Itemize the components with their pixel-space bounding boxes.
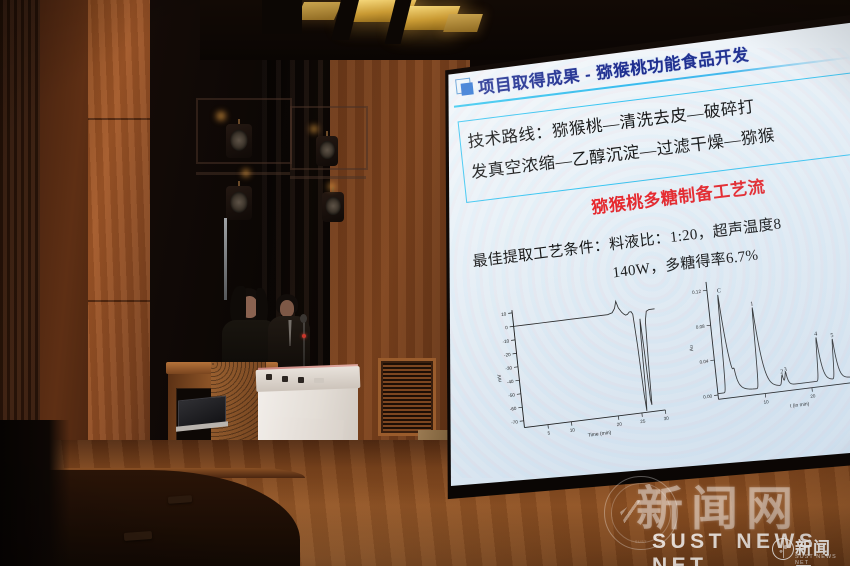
chart2-x-axis-label: t (in min) xyxy=(790,401,810,409)
svg-text:10: 10 xyxy=(763,399,769,405)
svg-text:-20: -20 xyxy=(504,352,512,358)
slide-content: 项目取得成果 - 猕猴桃功能食品开发 技术路线：猕猴桃—清洗去皮—破碎打 发真空… xyxy=(434,18,850,498)
logo-english: SUST NEWS NET xyxy=(795,554,848,566)
chart2-title: C xyxy=(717,288,722,294)
svg-text:0: 0 xyxy=(505,325,509,330)
chart-hplc-chromatogram: 0.000.040.080.12 102030 C Au t (in min) … xyxy=(672,255,850,431)
chart-gpc-chromatogram: 100-10-20-30-40-50-60-70 510202530 mV Ti… xyxy=(481,284,676,455)
projection-screen: 项目取得成果 - 猕猴桃功能食品开发 技术路线：猕猴桃—清洗去皮—破碎打 发真空… xyxy=(428,14,850,504)
svg-text:10: 10 xyxy=(501,311,507,317)
svg-text:-40: -40 xyxy=(507,379,515,385)
chart2-trace xyxy=(708,276,850,393)
stage-light xyxy=(316,136,338,166)
ceiling-beam xyxy=(262,0,302,34)
lectern-control-button[interactable] xyxy=(314,378,324,383)
microphone-icon xyxy=(300,314,307,323)
chart1-x-axis-label: Time (min) xyxy=(588,430,612,439)
svg-text:0.12: 0.12 xyxy=(692,289,702,295)
svg-text:-60: -60 xyxy=(510,406,518,412)
lectern-control-button[interactable] xyxy=(266,374,272,380)
svg-text:5: 5 xyxy=(547,430,551,435)
chart1-trace xyxy=(512,297,665,427)
svg-text:30: 30 xyxy=(663,416,669,422)
stage-light xyxy=(226,124,252,158)
svg-text:1: 1 xyxy=(750,301,754,307)
lighting-truss-bar xyxy=(290,176,366,179)
chart2-axes xyxy=(706,262,850,399)
svg-text:20: 20 xyxy=(616,421,622,427)
lectern-control-button[interactable] xyxy=(298,377,304,383)
svg-text:-50: -50 xyxy=(508,392,516,398)
chart2-peak-labels: 123456 xyxy=(750,289,850,379)
light-pole xyxy=(224,218,227,300)
chart1-y-axis-label: mV xyxy=(497,373,504,382)
svg-text:25: 25 xyxy=(640,419,646,425)
screen-surface: 项目取得成果 - 猕猴桃功能食品开发 技术路线：猕猴桃—清洗去皮—破碎打 发真空… xyxy=(434,18,850,498)
svg-text:0.08: 0.08 xyxy=(696,324,706,330)
light-glow xyxy=(326,182,337,191)
svg-text:3: 3 xyxy=(784,367,788,373)
stage-light xyxy=(226,186,252,220)
chart2-y-axis-label: Au xyxy=(689,345,696,352)
svg-text:-30: -30 xyxy=(505,365,513,371)
stage-light xyxy=(322,192,344,222)
chart1-axes xyxy=(512,293,665,428)
light-glow xyxy=(240,168,252,178)
svg-text:0.04: 0.04 xyxy=(699,359,709,365)
watermark-chinese: 新闻网 xyxy=(636,470,801,539)
light-glow xyxy=(308,124,320,134)
microphone-indicator xyxy=(302,334,306,338)
chart2-y-ticks: 0.000.040.080.12 xyxy=(692,288,719,399)
lectern-control-button[interactable] xyxy=(282,376,288,382)
chart1-y-ticks: 100-10-20-30-40-50-60-70 xyxy=(499,311,524,425)
screenshot-root: 项目取得成果 - 猕猴桃功能食品开发 技术路线：猕猴桃—清洗去皮—破碎打 发真空… xyxy=(0,0,850,566)
svg-text:0.00: 0.00 xyxy=(703,393,713,399)
globe-icon xyxy=(772,538,794,560)
svg-text:-10: -10 xyxy=(502,338,510,344)
svg-text:-70: -70 xyxy=(511,419,519,425)
news-site-logo: 新闻网 SUST NEWS NET xyxy=(770,534,848,564)
svg-text:10: 10 xyxy=(570,427,576,433)
svg-text:20: 20 xyxy=(810,393,816,399)
ceiling-light-panel xyxy=(296,2,342,20)
left-shadow xyxy=(0,420,70,566)
light-glow xyxy=(214,110,228,122)
svg-text:4: 4 xyxy=(814,331,818,337)
svg-text:5: 5 xyxy=(830,333,834,339)
square-bullet-icon xyxy=(455,77,474,96)
